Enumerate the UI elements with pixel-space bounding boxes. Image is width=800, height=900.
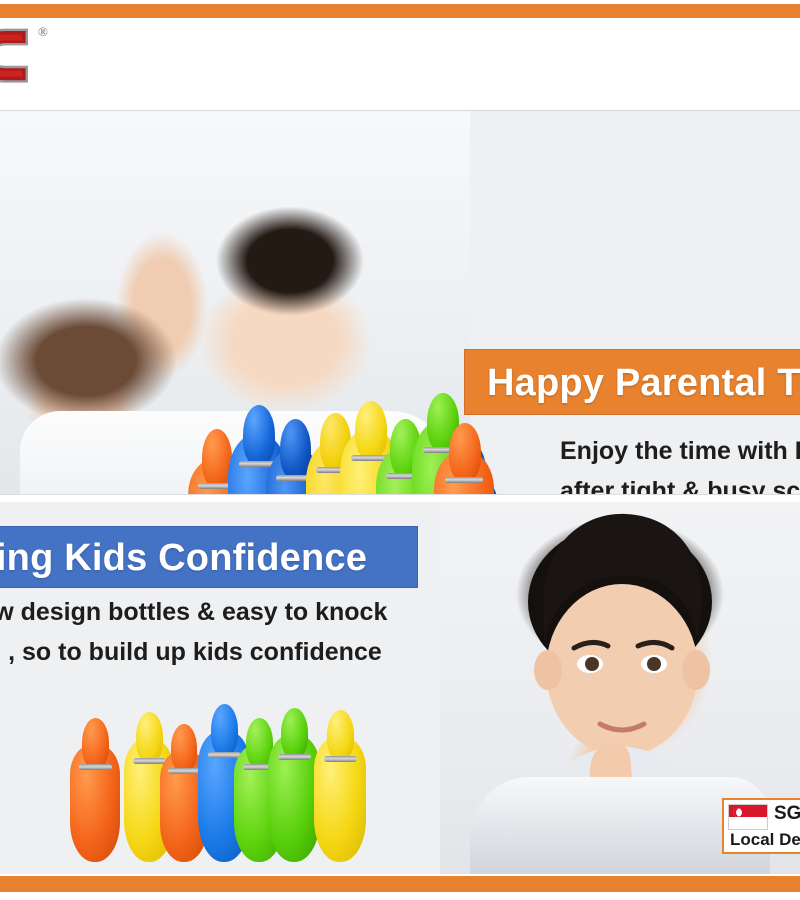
bottom-brand-bar <box>0 876 800 892</box>
crescent-icon <box>733 808 742 817</box>
panel-two-subtitle-line-2: vn , so to build up kids confidence <box>0 632 427 672</box>
top-brand-bar <box>0 4 800 18</box>
badge-country-code: SG <box>774 803 800 825</box>
header-band: ® ds <box>0 18 800 111</box>
sg-local-delivery-badge: SG Local De <box>722 798 800 854</box>
brand-logo[interactable]: ® ds <box>0 22 82 108</box>
panel-one-subtitle-line-2: after tight & busy schedu <box>560 471 800 494</box>
panel-one-subtitle-line-1: Enjoy the time with Kids <box>560 431 800 471</box>
panel-two-subtitle-line-1: low design bottles & easy to knock <box>0 592 427 632</box>
singapore-flag-icon <box>728 804 768 830</box>
panel-building-kids-confidence: ilding Kids Confidence low design bottle… <box>0 502 800 874</box>
bowling-pins-group-top <box>180 369 500 494</box>
panel-two-title: ilding Kids Confidence <box>0 526 418 588</box>
panel-one-subtitle: Enjoy the time with Kids after tight & b… <box>560 431 800 494</box>
panel-happy-parental-time: Happy Parental Tim Enjoy the time with K… <box>0 111 800 494</box>
panel-one-title: Happy Parental Tim <box>464 349 800 415</box>
logo-mark-icon <box>0 26 34 84</box>
registered-trademark-icon: ® <box>38 24 48 40</box>
panel-two-subtitle: low design bottles & easy to knock vn , … <box>0 592 427 672</box>
product-banner-page: ® ds <box>0 0 800 900</box>
bowling-pins-group-bottom <box>62 662 392 862</box>
badge-delivery-text: Local De <box>730 830 800 850</box>
